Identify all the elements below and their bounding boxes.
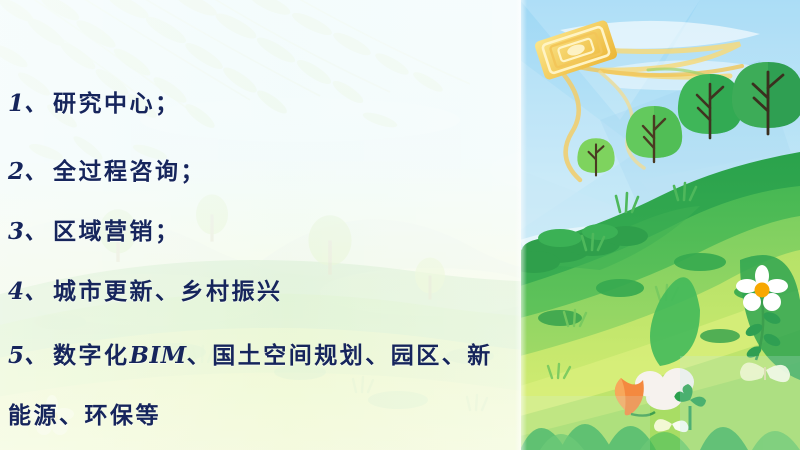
right-illustration-panel	[521, 0, 800, 450]
bullet-line-1: 1、研究中心；	[8, 84, 181, 118]
bullet-text-6: 能源、环保等	[8, 403, 161, 429]
bullet-text-3: 区域营销；	[53, 219, 181, 245]
bullet-number-5: 5、	[8, 342, 47, 369]
bullet-text-block: 1、研究中心； 2、全过程咨询； 3、区域营销； 4、城市更新、乡村振兴 5、数…	[0, 0, 521, 450]
bullet-text-5-pre: 数字化	[53, 343, 130, 369]
bullet-line-4: 4、城市更新、乡村振兴	[8, 272, 283, 306]
bullet-line-3: 3、区域营销；	[8, 212, 181, 246]
bullet-number-2: 2、	[8, 158, 47, 185]
background-illustration-right	[521, 0, 800, 450]
bullet-text-1: 研究中心；	[53, 91, 181, 117]
bullet-text-2: 全过程咨询；	[53, 159, 206, 185]
bullet-line-5: 5、数字化BIM、国土空间规划、园区、新	[8, 336, 493, 370]
bullet-line-6: 能源、环保等	[8, 396, 161, 430]
bullet-number-3: 3、	[8, 218, 47, 245]
bullet-number-4: 4、	[8, 278, 47, 305]
slide-canvas: 1、研究中心； 2、全过程咨询； 3、区域营销； 4、城市更新、乡村振兴 5、数…	[0, 0, 800, 450]
bullet-line-2: 2、全过程咨询；	[8, 152, 206, 186]
bullet-text-5-post: 、国土空间规划、园区、新	[187, 343, 493, 369]
bullet-text-5-latin: BIM	[130, 342, 187, 369]
bullet-text-4: 城市更新、乡村振兴	[53, 279, 283, 305]
bullet-number-1: 1、	[8, 90, 47, 117]
